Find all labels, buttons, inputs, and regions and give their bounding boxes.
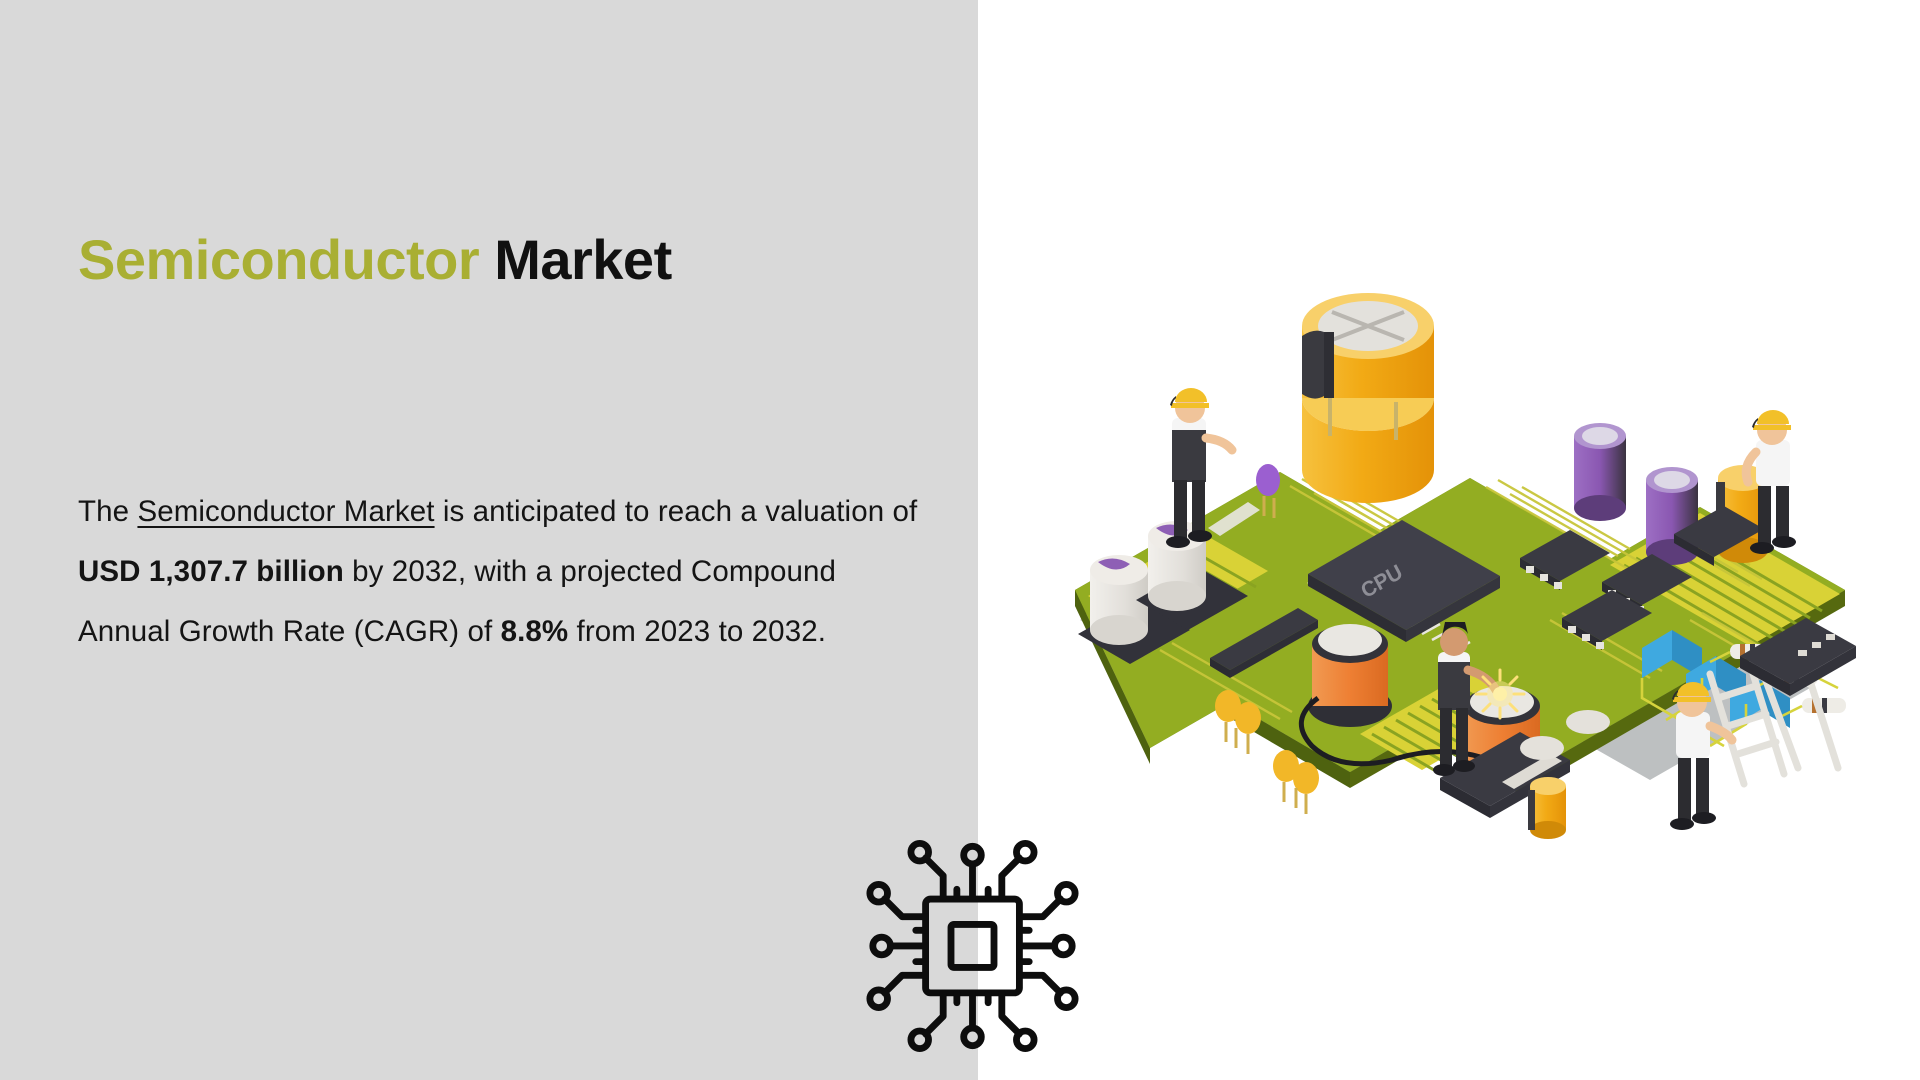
slide-canvas: Semiconductor Market The Semiconductor M… bbox=[0, 0, 1920, 1080]
coil-orange-1 bbox=[1308, 624, 1392, 727]
headline-space bbox=[479, 228, 494, 291]
cagr-value: 8.8% bbox=[501, 615, 569, 648]
page-title: Semiconductor Market bbox=[78, 230, 918, 290]
paragraph-segment-4: from 2023 to 2032. bbox=[568, 615, 826, 648]
headline-plain-word: Market bbox=[494, 228, 672, 291]
paragraph-segment-1: The bbox=[78, 495, 137, 528]
capacitor-yellow-small bbox=[1528, 777, 1566, 839]
valuation-value: USD 1,307.7 billion bbox=[78, 555, 344, 588]
headline-accent-word: Semiconductor bbox=[78, 228, 479, 291]
welding-spark bbox=[1476, 670, 1524, 718]
paragraph-segment-2: is anticipated to reach a valuation of bbox=[435, 495, 918, 528]
market-summary-paragraph: The Semiconductor Market is anticipated … bbox=[78, 482, 918, 662]
semiconductor-market-link[interactable]: Semiconductor Market bbox=[137, 495, 434, 528]
cpu-chip-circuit-icon bbox=[865, 830, 1080, 1060]
headline-block: Semiconductor Market bbox=[78, 230, 918, 290]
capacitor-purple-1 bbox=[1574, 423, 1626, 521]
isometric-circuit-board-illustration: CPU bbox=[1050, 150, 1880, 850]
capacitor-yellow-large bbox=[1302, 293, 1434, 503]
